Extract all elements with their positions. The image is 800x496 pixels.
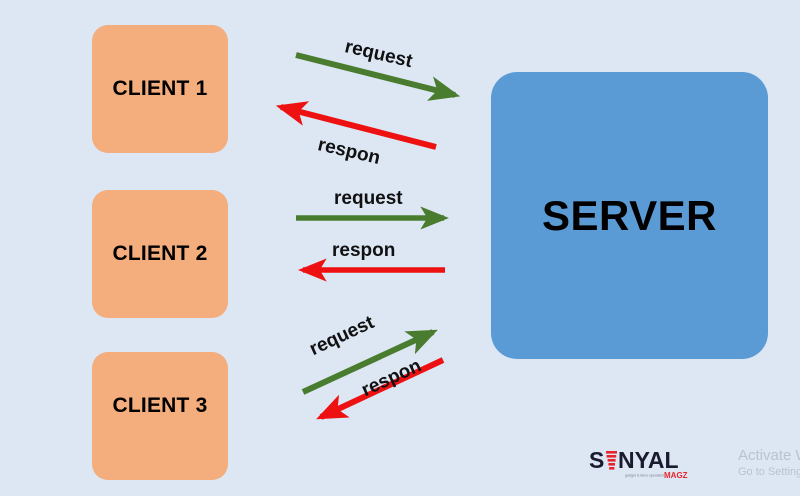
sinyal-magz-logo: S NYAL gadget & telco specialist MAGZ [588,444,688,484]
activation-title: Activate Windows [738,446,800,465]
client-node-2[interactable]: CLIENT 2 [92,190,228,318]
arrow-respon-1 [281,107,436,147]
windows-activation-watermark: Activate Windows Go to Settings to activ… [738,446,800,480]
server-node-label: SERVER [542,192,717,240]
logo-text-after: NYAL [618,447,679,473]
client-node-3[interactable]: CLIENT 3 [92,352,228,480]
activation-subtitle: Go to Settings to activate Windows. [738,465,800,480]
logo-signal-icon [606,451,617,470]
server-node[interactable]: SERVER [491,72,768,359]
client-node-2-label: CLIENT 2 [113,242,208,266]
arrow-label-respon-2: respon [332,240,395,262]
arrow-label-request-2: request [334,188,403,210]
logo-tagline: gadget & telco specialist [625,474,664,478]
client-node-1[interactable]: CLIENT 1 [92,25,228,153]
client-node-3-label: CLIENT 3 [113,394,208,418]
logo-sub-text: MAGZ [664,471,688,480]
client-node-1-label: CLIENT 1 [113,77,208,101]
logo-text-before: S [589,447,604,473]
diagram-canvas: CLIENT 1 CLIENT 2 CLIENT 3 SERVER reques… [0,0,800,496]
